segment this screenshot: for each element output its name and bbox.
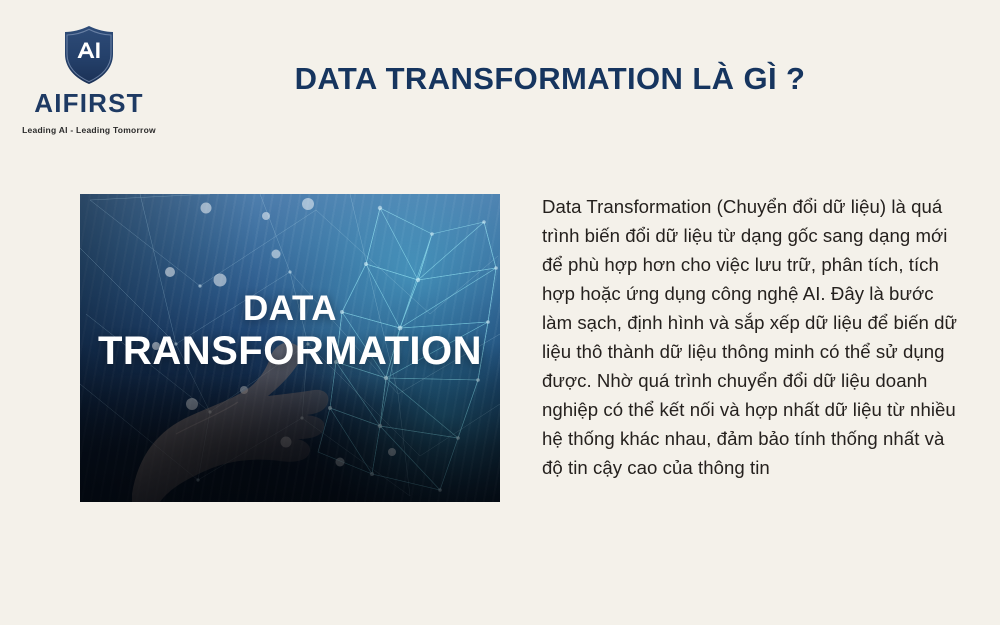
shield-ai-icon	[61, 24, 117, 86]
hero-image: DATA TRANSFORMATION	[80, 194, 500, 502]
brand-logo: AIFIRST Leading AI - Leading Tomorrow	[16, 24, 162, 135]
page-title: DATA TRANSFORMATION LÀ GÌ ?	[180, 62, 920, 95]
brand-wordmark: AIFIRST	[16, 90, 162, 116]
brand-tagline: Leading AI - Leading Tomorrow	[16, 125, 162, 135]
hero-vignette	[80, 194, 500, 502]
body-paragraph: Data Transformation (Chuyển đổi dữ liệu)…	[542, 192, 962, 482]
